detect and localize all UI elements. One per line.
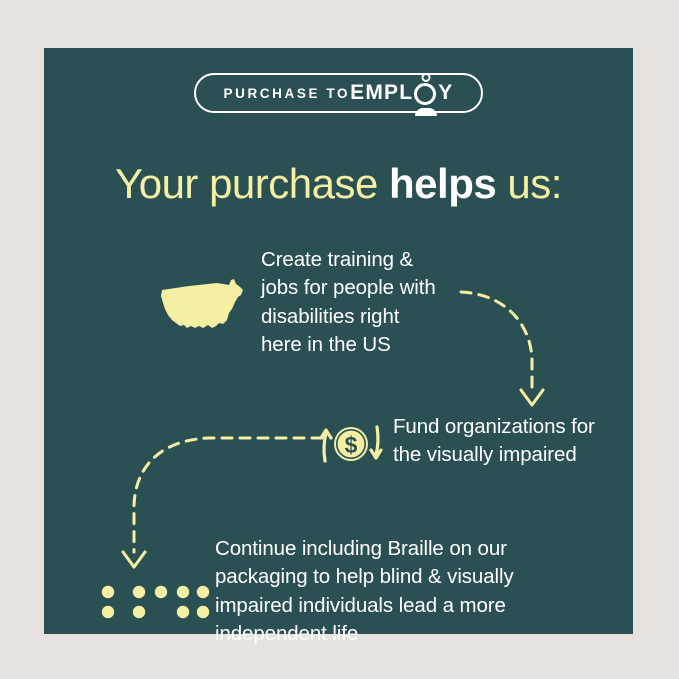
headline-part-3: us:: [496, 160, 562, 207]
benefit-row-3: Continue including Braille on our packag…: [99, 535, 514, 648]
page-title: Your purchase helps us:: [44, 161, 633, 207]
logo-text-big-pre: EMPL: [350, 81, 413, 105]
main-card: PURCHASE TO EMPLY Your purchase helps us…: [44, 48, 633, 634]
logo-pill: PURCHASE TO EMPLY: [194, 73, 484, 113]
person-head: [421, 73, 430, 82]
person-shoulders: [415, 108, 437, 116]
person-figure-icon: [414, 82, 437, 105]
poster: PURCHASE TO EMPLY Your purchase helps us…: [0, 0, 679, 679]
svg-text:$: $: [345, 432, 358, 458]
benefit-row-2: $ Fund organizations for the visually im…: [317, 413, 595, 470]
headline-part-2: helps: [389, 160, 496, 207]
logo-container: PURCHASE TO EMPLY: [44, 73, 633, 113]
logo-text: PURCHASE TO EMPLY: [224, 81, 454, 105]
logo-text-big-post: Y: [438, 81, 453, 105]
benefit-text-3: Continue including Braille on our packag…: [215, 535, 514, 648]
person-ring: [414, 83, 436, 105]
us-map-icon: [159, 276, 251, 334]
logo-text-small: PURCHASE TO: [224, 86, 351, 101]
headline-part-1: Your purchase: [115, 160, 389, 207]
dollar-coin-circulation-icon: $: [317, 419, 387, 469]
braille-dots-icon: [99, 583, 207, 623]
dashed-arrow-down-right-icon: [459, 286, 559, 416]
benefit-row-1: Create training & jobs for people with d…: [159, 246, 436, 359]
benefit-text-1: Create training & jobs for people with d…: [261, 246, 436, 359]
benefit-text-2: Fund organizations for the visually impa…: [393, 413, 595, 470]
